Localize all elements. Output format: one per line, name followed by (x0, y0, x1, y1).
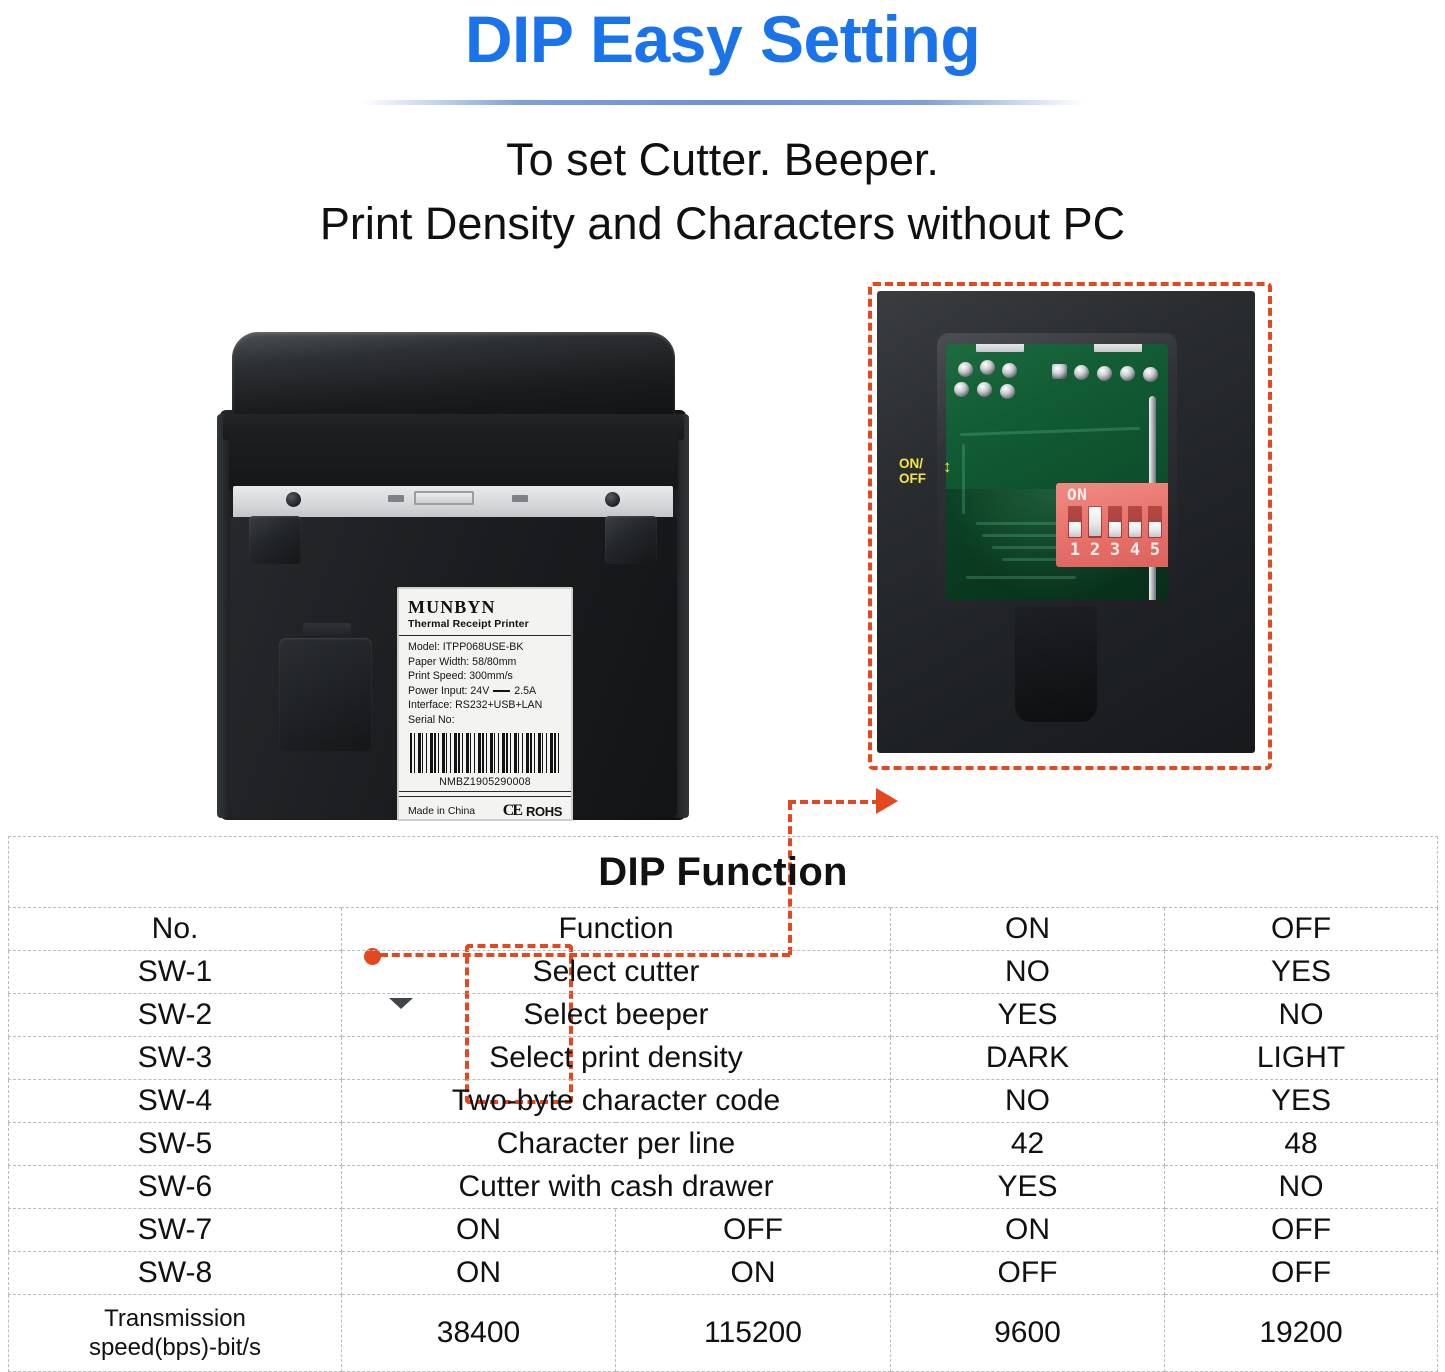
table-row: Transmission speed(bps)-bit/s 38400 1152… (9, 1295, 1438, 1372)
cell-c1: ON (342, 1252, 616, 1295)
cell-no: SW-5 (9, 1123, 342, 1166)
cell-c3: OFF (891, 1252, 1165, 1295)
column-header-off: OFF (1165, 908, 1438, 951)
cell-function: Character per line (342, 1123, 891, 1166)
printer-lid (232, 332, 675, 427)
label-brand: MUNBYN (408, 597, 562, 617)
cell-c4: OFF (1165, 1209, 1438, 1252)
connector-line-horizontal-2 (788, 800, 880, 804)
printer-screw-right (605, 492, 620, 507)
cell-c2: 115200 (616, 1295, 891, 1372)
label-spec-interface: Interface: RS232+USB+LAN (408, 698, 562, 713)
cell-off: YES (1165, 951, 1438, 994)
label-spec-serial: Serial No: (408, 713, 562, 728)
subtitle: To set Cutter. Beeper. Print Density and… (0, 128, 1445, 256)
cell-function: Two-byte character code (342, 1080, 891, 1123)
label-footer: Made in China CE ROHS (399, 796, 571, 820)
closeup-callout-frame (868, 282, 1272, 770)
label-spec-print-speed: Print Speed: 300mm/s (408, 669, 562, 684)
label-power-prefix: Power Input: 24V (408, 684, 489, 699)
transmission-label-line-1: Transmission (9, 1304, 341, 1333)
printer-port-small-right (512, 495, 528, 502)
column-header-no: No. (9, 908, 342, 951)
cell-on: NO (891, 1080, 1165, 1123)
cell-on: YES (891, 1166, 1165, 1209)
cell-function: Select cutter (342, 951, 891, 994)
table-title: DIP Function (9, 837, 1438, 908)
cell-c1: ON (342, 1209, 616, 1252)
cell-off: LIGHT (1165, 1037, 1438, 1080)
printer-screw-left (286, 492, 301, 507)
printer-lid-face (229, 428, 678, 490)
cell-function: Select beeper (342, 994, 891, 1037)
label-spec-paper-width: Paper Width: 58/80mm (408, 655, 562, 670)
cell-on: YES (891, 994, 1165, 1037)
printer-foot-right (605, 516, 657, 564)
cell-no: SW-8 (9, 1252, 342, 1295)
rohs-mark-icon: ROHS (526, 804, 562, 819)
table-row: SW-1 Select cutter NO YES (9, 951, 1438, 994)
dip-cover-door (279, 638, 372, 751)
printer-foot-left (249, 516, 301, 564)
label-header: MUNBYN Thermal Receipt Printer (399, 589, 571, 636)
table-header-row: No. Function ON OFF (9, 908, 1438, 951)
table-row: SW-4 Two-byte character code NO YES (9, 1080, 1438, 1123)
cell-c3: 9600 (891, 1295, 1165, 1372)
cell-on: DARK (891, 1037, 1165, 1080)
cell-c4: 19200 (1165, 1295, 1438, 1372)
cell-c3: ON (891, 1209, 1165, 1252)
dip-function-table: DIP Function No. Function ON OFF SW-1 Se… (8, 836, 1438, 1372)
cell-no: SW-6 (9, 1166, 342, 1209)
product-label: MUNBYN Thermal Receipt Printer Model: IT… (397, 587, 573, 821)
label-spec-power: Power Input: 24V 2.5A (408, 684, 562, 699)
ce-mark-icon: CE (503, 802, 521, 820)
cell-no: SW-3 (9, 1037, 342, 1080)
cell-function: Select print density (342, 1037, 891, 1080)
table-row: SW-5 Character per line 42 48 (9, 1123, 1438, 1166)
cell-transmission-label: Transmission speed(bps)-bit/s (9, 1295, 342, 1372)
page-title: DIP Easy Setting (0, 0, 1445, 80)
illustration-area: MUNBYN Thermal Receipt Printer Model: IT… (0, 268, 1445, 838)
label-compliance-marks: CE ROHS (503, 802, 562, 820)
dc-symbol-icon (493, 690, 510, 692)
cell-c2: OFF (616, 1209, 891, 1252)
cell-no: SW-2 (9, 994, 342, 1037)
printer-port-small-left (388, 495, 404, 502)
barcode-number: NMBZ1905290008 (408, 775, 562, 790)
cell-c2: ON (616, 1252, 891, 1295)
table-row: SW-3 Select print density DARK LIGHT (9, 1037, 1438, 1080)
cell-no: SW-7 (9, 1209, 342, 1252)
cell-c1: 38400 (342, 1295, 616, 1372)
table-row: SW-7 ON OFF ON OFF (9, 1209, 1438, 1252)
label-made-in: Made in China (408, 806, 475, 817)
column-header-on: ON (891, 908, 1165, 951)
column-header-function: Function (342, 908, 891, 951)
subtitle-line-1: To set Cutter. Beeper. (0, 128, 1445, 192)
barcode-icon (410, 733, 560, 773)
printer-photo: MUNBYN Thermal Receipt Printer Model: IT… (203, 310, 703, 830)
cell-no: SW-1 (9, 951, 342, 994)
header-section: DIP Easy Setting To set Cutter. Beeper. … (0, 0, 1445, 270)
cell-on: NO (891, 951, 1165, 994)
table-row: SW-6 Cutter with cash drawer YES NO (9, 1166, 1438, 1209)
cell-off: NO (1165, 1166, 1438, 1209)
transmission-label-line-2: speed(bps)-bit/s (9, 1333, 341, 1362)
cell-on: 42 (891, 1123, 1165, 1166)
label-spec-model: Model: ITPP068USE-BK (408, 640, 562, 655)
title-divider (362, 100, 1084, 105)
printer-usb-port (414, 491, 474, 505)
subtitle-line-2: Print Density and Characters without PC (0, 192, 1445, 256)
label-specs: Model: ITPP068USE-BK Paper Width: 58/80m… (399, 636, 571, 792)
table-row: SW-8 ON ON OFF OFF (9, 1252, 1438, 1295)
connector-arrow-icon (876, 788, 898, 814)
cell-function: Cutter with cash drawer (342, 1166, 891, 1209)
cell-off: NO (1165, 994, 1438, 1037)
table-row: SW-2 Select beeper YES NO (9, 994, 1438, 1037)
table-title-row: DIP Function (9, 837, 1438, 908)
cell-c4: OFF (1165, 1252, 1438, 1295)
label-product-type: Thermal Receipt Printer (408, 618, 562, 630)
cell-no: SW-4 (9, 1080, 342, 1123)
cell-off: 48 (1165, 1123, 1438, 1166)
cell-off: YES (1165, 1080, 1438, 1123)
label-power-suffix: 2.5A (514, 684, 536, 699)
